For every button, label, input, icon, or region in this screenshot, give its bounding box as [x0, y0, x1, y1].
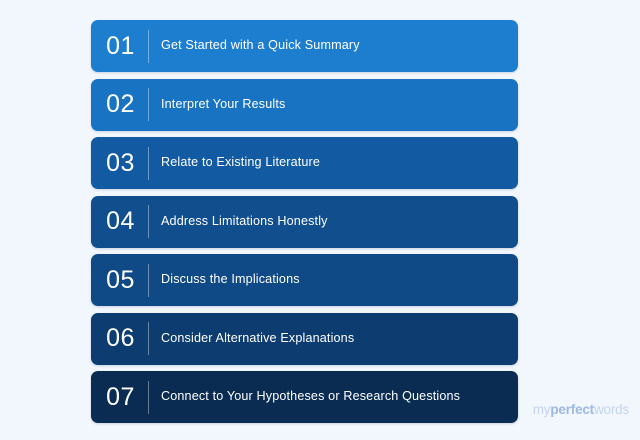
- step-row[interactable]: 01Get Started with a Quick Summary: [91, 20, 518, 72]
- step-number: 04: [91, 209, 148, 234]
- step-label: Interpret Your Results: [149, 97, 285, 112]
- step-row[interactable]: 07Connect to Your Hypotheses or Research…: [91, 371, 518, 423]
- brand-logo: myperfectwords: [533, 403, 629, 417]
- step-number: 05: [91, 268, 148, 293]
- brand-perfect-text: perfect: [550, 402, 594, 417]
- step-label: Consider Alternative Explanations: [149, 331, 354, 346]
- step-number: 01: [91, 34, 148, 59]
- brand-words-text: words: [594, 402, 629, 417]
- step-row[interactable]: 04Address Limitations Honestly: [91, 196, 518, 248]
- step-label: Get Started with a Quick Summary: [149, 38, 360, 53]
- step-row[interactable]: 06Consider Alternative Explanations: [91, 313, 518, 365]
- step-label: Relate to Existing Literature: [149, 155, 320, 170]
- step-row[interactable]: 03Relate to Existing Literature: [91, 137, 518, 189]
- step-label: Address Limitations Honestly: [149, 214, 328, 229]
- steps-list: 01Get Started with a Quick Summary02Inte…: [91, 20, 518, 423]
- step-number: 07: [91, 385, 148, 410]
- step-number: 02: [91, 92, 148, 117]
- step-number: 03: [91, 151, 148, 176]
- step-row[interactable]: 02Interpret Your Results: [91, 79, 518, 131]
- brand-my-text: my: [533, 402, 551, 417]
- step-number: 06: [91, 326, 148, 351]
- step-label: Discuss the Implications: [149, 272, 300, 287]
- step-label: Connect to Your Hypotheses or Research Q…: [149, 389, 460, 404]
- step-row[interactable]: 05Discuss the Implications: [91, 254, 518, 306]
